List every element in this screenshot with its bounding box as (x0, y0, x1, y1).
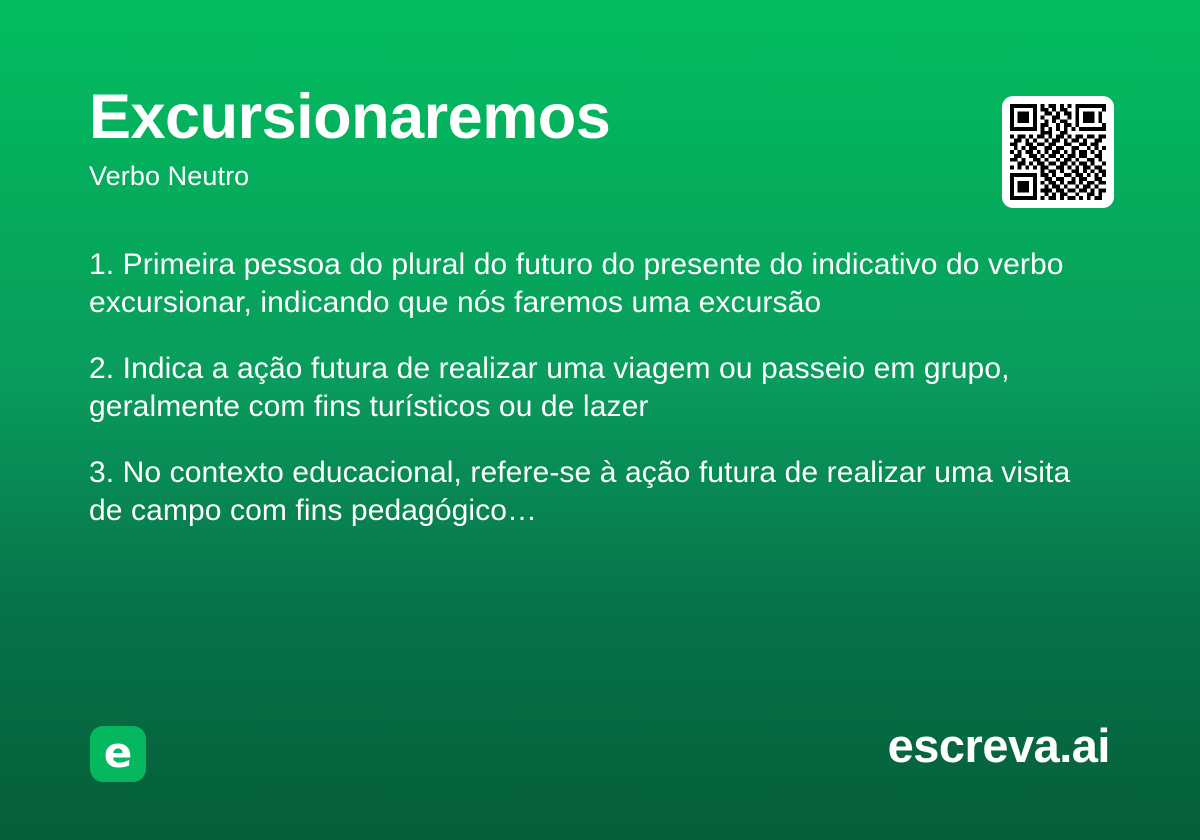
definition-item: 2. Indica a ação futura de realizar uma … (89, 350, 1099, 426)
definitions-list: 1. Primeira pessoa do plural do futuro d… (89, 246, 1099, 531)
card-header: Excursionaremos Verbo Neutro (89, 86, 1111, 190)
escreva-logo[interactable]: e (90, 726, 146, 782)
qr-code-panel[interactable] (1002, 96, 1114, 208)
definition-item: 3. No contexto educacional, refere-se à … (89, 454, 1099, 530)
definition-item: 1. Primeira pessoa do plural do futuro d… (89, 246, 1099, 322)
card-footer: e escreva.ai (0, 700, 1200, 840)
brand-wordmark: escreva.ai (888, 722, 1110, 769)
page-title: Excursionaremos (89, 86, 1111, 149)
definition-card: Excursionaremos Verbo Neutro 1. Primeira… (0, 0, 1200, 840)
word-class-subtitle: Verbo Neutro (89, 163, 1111, 190)
logo-letter: e (104, 732, 133, 774)
qr-code-icon (1010, 104, 1106, 200)
